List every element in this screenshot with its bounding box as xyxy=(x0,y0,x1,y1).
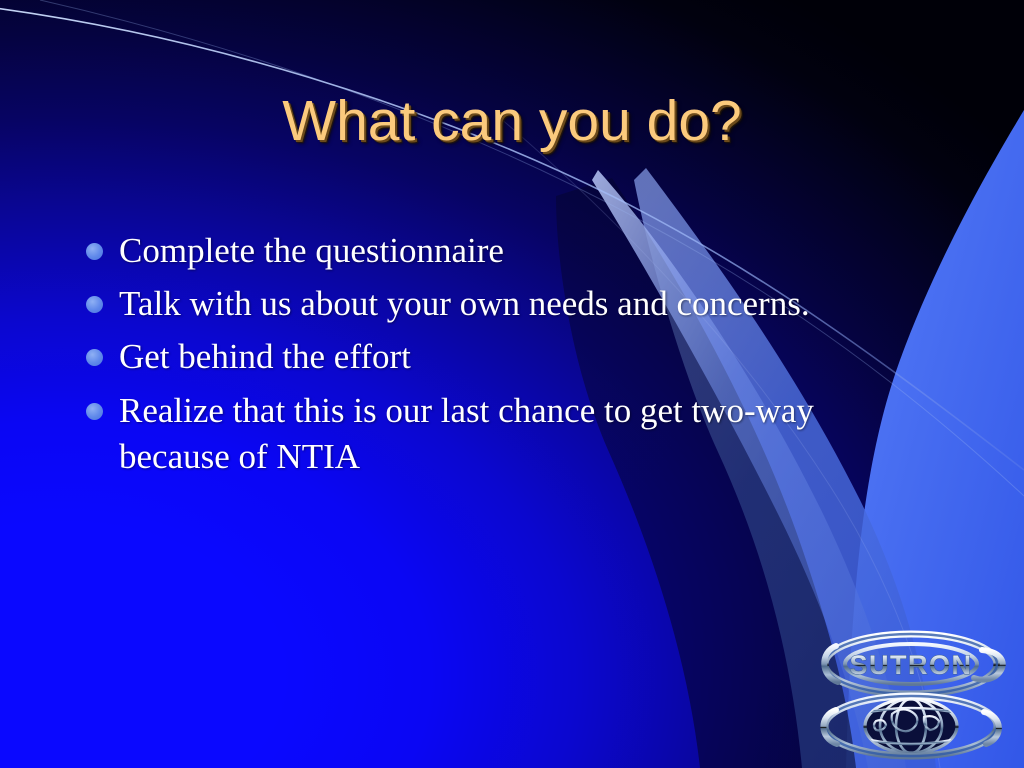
slide-body-list: Complete the questionnaire Talk with us … xyxy=(86,228,906,487)
bullet-dot-icon xyxy=(86,349,103,366)
list-item: Talk with us about your own needs and co… xyxy=(86,281,906,327)
presentation-slide: What can you do? Complete the questionna… xyxy=(0,0,1024,768)
sutron-logo: SUTRON xyxy=(806,622,1016,768)
list-item: Get behind the effort xyxy=(86,334,906,380)
list-item-label: Realize that this is our last chance to … xyxy=(119,388,879,480)
bullet-dot-icon xyxy=(86,296,103,313)
bullet-dot-icon xyxy=(86,243,103,260)
logo-wordmark: SUTRON xyxy=(850,650,973,680)
logo-lower-globe-ellipse xyxy=(823,696,999,756)
bullet-dot-icon xyxy=(86,403,103,420)
list-item: Realize that this is our last chance to … xyxy=(86,388,906,480)
list-item: Complete the questionnaire xyxy=(86,228,906,274)
list-item-label: Get behind the effort xyxy=(119,334,411,380)
list-item-label: Complete the questionnaire xyxy=(119,228,504,274)
slide-title: What can you do? xyxy=(0,88,1024,154)
list-item-label: Talk with us about your own needs and co… xyxy=(119,281,810,327)
